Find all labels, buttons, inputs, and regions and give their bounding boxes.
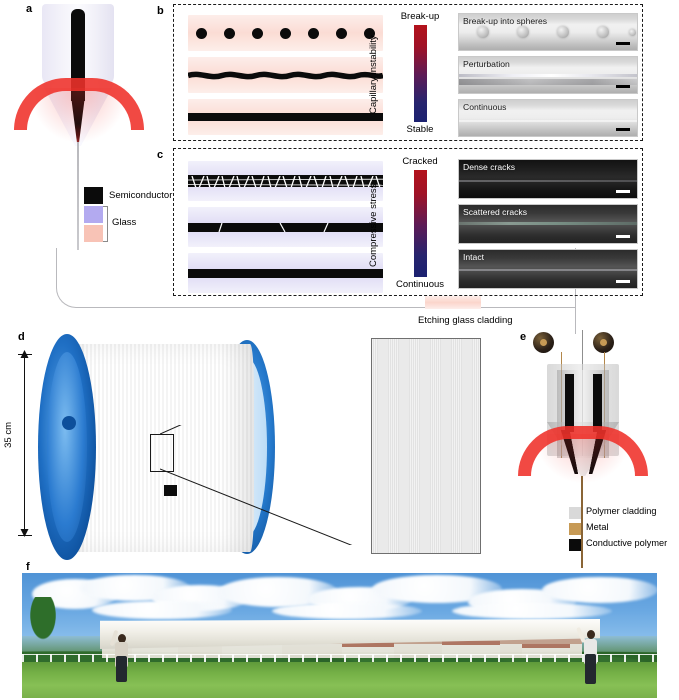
break-up-schematic xyxy=(188,15,383,51)
colorbar-top-label: Break-up xyxy=(380,11,460,22)
micrograph-caption: Dense cracks xyxy=(463,162,515,172)
spool-dimension-label: 35 cm xyxy=(3,422,47,448)
continuous-core xyxy=(188,113,383,121)
micrograph-intact: Intact xyxy=(458,249,638,289)
metal-label: Metal xyxy=(586,522,608,534)
dense-cracks-schematic xyxy=(188,161,383,201)
conductive-polymer-core-left xyxy=(565,374,574,432)
zoom-callout-lines xyxy=(160,425,375,545)
dimension-tick-bottom xyxy=(18,535,32,536)
perturbation-schematic xyxy=(188,57,383,93)
semiconductor-label: Semiconductor xyxy=(109,190,172,201)
glass-swatch-lower xyxy=(84,225,103,242)
spool-core xyxy=(600,339,607,346)
sphere-droplet xyxy=(557,26,569,38)
etched-fiber-segment xyxy=(425,296,481,309)
polymer-cladding-label: Polymer cladding xyxy=(586,506,656,518)
crack-pattern xyxy=(188,223,383,232)
micrograph-dense-cracks: Dense cracks xyxy=(458,159,638,199)
fiber-surface-zoom-inset xyxy=(371,338,481,554)
intact-schematic xyxy=(188,253,383,293)
panel-e-legend: Polymer cladding Metal Conductive polyme… xyxy=(569,506,679,554)
cloud xyxy=(92,601,232,619)
colorbar-axis-label: Compressive stress xyxy=(368,172,379,278)
person-head xyxy=(587,630,595,639)
scale-bar xyxy=(616,280,630,283)
glass-label: Glass xyxy=(112,217,136,228)
person-legs xyxy=(116,656,127,682)
scale-bar xyxy=(616,42,630,45)
micrograph-caption: Continuous xyxy=(463,102,506,112)
person-left xyxy=(110,628,136,680)
scale-bar xyxy=(616,128,630,131)
metal-wire-spool-left xyxy=(533,332,554,353)
scale-bar xyxy=(616,235,630,238)
legend-row-conductive-polymer: Conductive polymer xyxy=(569,538,679,551)
capillary-instability-colorbar: Break-up Stable Capillary instability xyxy=(386,11,456,137)
etching-step-label: Etching glass cladding xyxy=(418,315,513,326)
core-sphere xyxy=(280,28,291,39)
micrograph-perturbation: Perturbation xyxy=(458,56,638,94)
colorbar-gradient xyxy=(414,170,427,277)
drawn-fiber xyxy=(77,142,79,250)
sphere-droplet xyxy=(597,26,609,38)
person-legs xyxy=(585,654,596,684)
person-right xyxy=(578,628,606,684)
cloud xyxy=(452,603,612,619)
metal-wire-spool-right xyxy=(593,332,614,353)
core-sphere xyxy=(224,28,235,39)
panel-e: e Polymer cladding Metal xyxy=(505,330,679,565)
micrograph-caption: Break-up into spheres xyxy=(463,16,547,26)
glass-swatch-upper xyxy=(84,206,103,223)
core-sphere xyxy=(308,28,319,39)
panel-label-c: c xyxy=(157,150,163,161)
colorbar-axis-label: Capillary instability xyxy=(368,27,379,123)
spool-core xyxy=(540,339,547,346)
sphere-droplet xyxy=(477,26,489,38)
panel-label-e: e xyxy=(520,332,526,343)
core-trace xyxy=(459,120,637,122)
scale-bar xyxy=(616,190,630,193)
conductive-polymer-core-right xyxy=(593,374,602,432)
perturbed-core xyxy=(188,70,383,81)
micrograph-caption: Intact xyxy=(463,252,484,262)
dense-cracked-core xyxy=(188,175,383,187)
glass-group-brace xyxy=(103,206,108,242)
core-perturbation-trace xyxy=(459,74,637,77)
polymer-cladding-swatch xyxy=(569,507,581,519)
foreground-tree xyxy=(28,597,58,643)
micrograph-scattered-cracks: Scattered cracks xyxy=(458,204,638,244)
core-shadow xyxy=(459,79,637,85)
panel-c: Cracked Continuous Compressive stress De… xyxy=(173,148,643,296)
panel-label-d: d xyxy=(18,332,25,343)
colorbar-bottom-label: Stable xyxy=(380,124,460,135)
continuous-schematic xyxy=(188,99,383,135)
panel-label-b: b xyxy=(157,6,164,17)
spool-hub xyxy=(62,416,76,430)
cloud xyxy=(542,577,657,603)
spool-flange-left-inner xyxy=(47,352,87,542)
core-sphere xyxy=(252,28,263,39)
compressive-stress-colorbar: Cracked Continuous Compressive stress xyxy=(386,156,456,292)
figure-canvas: a Semiconductor Glass b xyxy=(0,0,679,700)
panel-label-f: f xyxy=(26,562,30,573)
crack-pattern xyxy=(188,176,383,187)
core-trace xyxy=(459,269,637,271)
micrograph-caption: Scattered cracks xyxy=(463,207,527,217)
core-sphere xyxy=(196,28,207,39)
micrograph-caption: Perturbation xyxy=(463,59,510,69)
panel-b: Break-up Stable Capillary instability Br… xyxy=(173,4,643,141)
semiconductor-swatch xyxy=(84,187,103,204)
colorbar-gradient xyxy=(414,25,427,122)
panel-f-photograph xyxy=(22,573,657,698)
core-trace xyxy=(459,180,637,182)
micrograph-breakup: Break-up into spheres xyxy=(458,13,638,51)
colorbar-bottom-label: Continuous xyxy=(380,279,460,290)
legend-row-polymer-cladding: Polymer cladding xyxy=(569,506,679,519)
colorbar-top-label: Cracked xyxy=(380,156,460,167)
core-sphere xyxy=(336,28,347,39)
scattered-cracks-schematic xyxy=(188,207,383,247)
scale-bar xyxy=(616,85,630,88)
legend-row-metal: Metal xyxy=(569,522,679,535)
conductive-polymer-label: Conductive polymer xyxy=(586,538,667,550)
micrograph-continuous: Continuous xyxy=(458,99,638,137)
furnace-heater xyxy=(14,78,144,130)
person-arm xyxy=(576,627,586,643)
panel-label-a: a xyxy=(26,4,32,15)
sphere-droplet xyxy=(629,29,636,36)
cloud xyxy=(272,603,422,619)
sphere-droplet xyxy=(517,26,529,38)
dimension-tick-top xyxy=(18,354,32,355)
panel-a: a Semiconductor Glass xyxy=(0,0,155,300)
intact-core xyxy=(188,269,383,278)
conductive-polymer-swatch xyxy=(569,539,581,551)
core-trace xyxy=(459,222,637,225)
metal-swatch xyxy=(569,523,581,535)
